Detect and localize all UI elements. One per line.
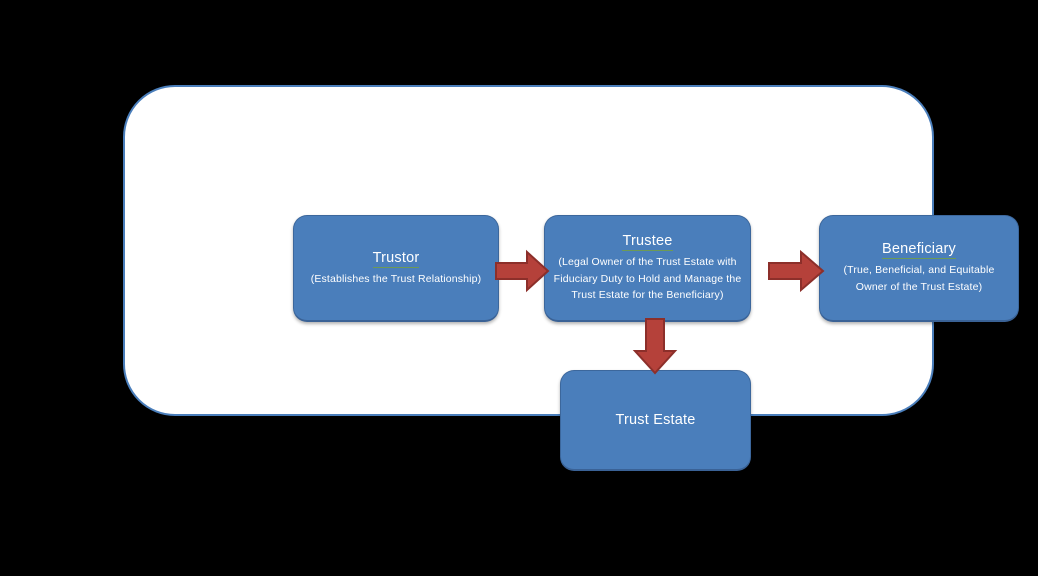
down-block-arrow-icon-trustee-to-trust-estate bbox=[633, 318, 677, 374]
node-trustor-description: (Establishes the Trust Relationship) bbox=[311, 271, 482, 288]
node-trust-estate-title: Trust Estate bbox=[615, 411, 695, 429]
node-trustee-title: Trustee bbox=[622, 232, 672, 251]
node-beneficiary-description: (True, Beneficial, and Equitable Owner o… bbox=[833, 262, 1005, 295]
node-beneficiary-title: Beneficiary bbox=[882, 240, 956, 259]
diagram-panel: Trustor (Establishes the Trust Relations… bbox=[123, 85, 934, 416]
node-trust-estate[interactable]: Trust Estate bbox=[560, 370, 751, 471]
right-block-arrow-icon-trustee-to-beneficiary bbox=[768, 250, 824, 292]
node-trustor-title: Trustor bbox=[373, 249, 420, 268]
node-trustee-description: (Legal Owner of the Trust Estate with Fi… bbox=[553, 254, 742, 304]
right-block-arrow-icon-trustor-to-trustee bbox=[495, 250, 549, 292]
node-trustor[interactable]: Trustor (Establishes the Trust Relations… bbox=[293, 215, 499, 322]
node-trustee[interactable]: Trustee (Legal Owner of the Trust Estate… bbox=[544, 215, 751, 322]
node-beneficiary[interactable]: Beneficiary (True, Beneficial, and Equit… bbox=[819, 215, 1019, 322]
